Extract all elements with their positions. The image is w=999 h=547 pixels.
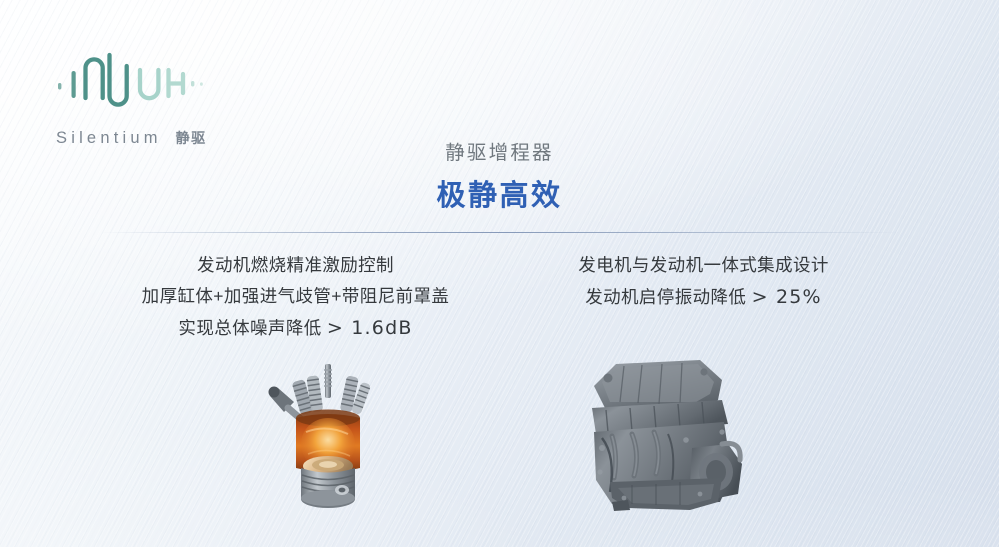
feature-line-metric: 发动机启停振动降低 > 25% bbox=[494, 281, 914, 315]
section-divider bbox=[100, 232, 900, 233]
feature-metric-value: > 25% bbox=[752, 286, 822, 308]
feature-columns: 发动机燃烧精准激励控制 加厚缸体+加强进气歧管+带阻尼前罩盖 实现总体噪声降低 … bbox=[0, 250, 999, 346]
feature-metric-prefix: 发动机启停振动降低 bbox=[585, 287, 751, 307]
engine-combustion-chamber-cutaway-icon bbox=[258, 358, 398, 510]
feature-metric-prefix: 实现总体噪声降低 bbox=[178, 318, 326, 338]
page-title: 极静高效 bbox=[0, 179, 999, 214]
feature-column-left: 发动机燃烧精准激励控制 加厚缸体+加强进气歧管+带阻尼前罩盖 实现总体噪声降低 … bbox=[86, 250, 506, 346]
slide-canvas: Silentium 静驱 静驱增程器 极静高效 发动机燃烧精准激励控制 加厚缸体… bbox=[0, 0, 999, 547]
page-eyebrow: 静驱增程器 bbox=[0, 142, 999, 165]
title-area: 静驱增程器 极静高效 bbox=[0, 142, 999, 214]
feature-line: 发电机与发动机一体式集成设计 bbox=[494, 250, 914, 281]
feature-metric-value: > 1.6dB bbox=[327, 317, 413, 339]
silentium-waveform-logo-icon bbox=[52, 44, 212, 112]
feature-line: 发动机燃烧精准激励控制 bbox=[86, 250, 506, 281]
engine-generator-assembly-icon bbox=[572, 352, 750, 512]
feature-line-metric: 实现总体噪声降低 > 1.6dB bbox=[86, 312, 506, 346]
feature-column-right: 发电机与发动机一体式集成设计 发动机启停振动降低 > 25% bbox=[494, 250, 914, 315]
brand-logo-block: Silentium 静驱 bbox=[52, 44, 252, 148]
feature-line: 加厚缸体+加强进气歧管+带阻尼前罩盖 bbox=[86, 281, 506, 312]
